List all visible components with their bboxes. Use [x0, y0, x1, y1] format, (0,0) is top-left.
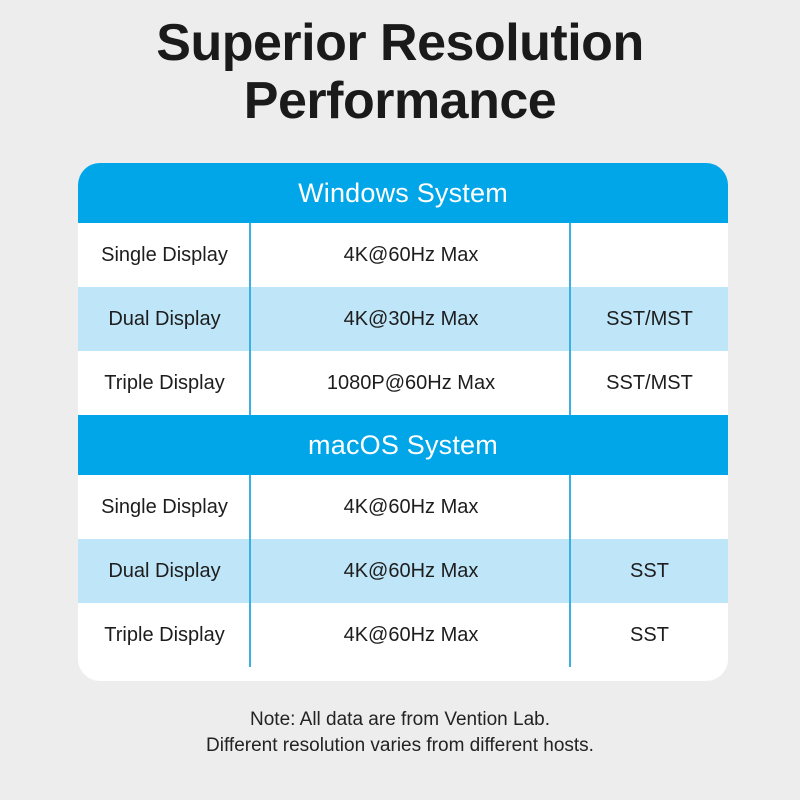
- page-title: Superior Resolution Performance: [0, 14, 800, 130]
- cell-resolution: 4K@60Hz Max: [251, 603, 571, 667]
- footnote-line-1: Note: All data are from Vention Lab.: [0, 707, 800, 733]
- cell-mode: SST/MST: [571, 351, 728, 415]
- cell-display-type: Triple Display: [78, 351, 251, 415]
- table-row: Triple Display 1080P@60Hz Max SST/MST: [78, 351, 728, 415]
- cell-display-type: Dual Display: [78, 539, 251, 603]
- cell-resolution: 1080P@60Hz Max: [251, 351, 571, 415]
- cell-resolution: 4K@60Hz Max: [251, 223, 571, 287]
- footnote: Note: All data are from Vention Lab. Dif…: [0, 707, 800, 758]
- cell-mode: SST/MST: [571, 287, 728, 351]
- cell-resolution: 4K@30Hz Max: [251, 287, 571, 351]
- page-title-line-2: Performance: [0, 72, 800, 130]
- section-header-windows-label: Windows System: [298, 178, 508, 209]
- page-title-line-1: Superior Resolution: [0, 14, 800, 72]
- table-row: Triple Display 4K@60Hz Max SST: [78, 603, 728, 667]
- cell-mode: SST: [571, 539, 728, 603]
- cell-resolution: 4K@60Hz Max: [251, 475, 571, 539]
- footnote-line-2: Different resolution varies from differe…: [0, 733, 800, 759]
- resolution-performance-infographic: Superior Resolution Performance Windows …: [0, 0, 800, 800]
- section-header-windows: Windows System: [78, 163, 728, 223]
- table-row: Single Display 4K@60Hz Max: [78, 223, 728, 287]
- cell-display-type: Triple Display: [78, 603, 251, 667]
- resolution-table-card: Windows System Single Display 4K@60Hz Ma…: [78, 163, 728, 681]
- table-row: Dual Display 4K@30Hz Max SST/MST: [78, 287, 728, 351]
- cell-mode: [571, 475, 728, 539]
- cell-display-type: Single Display: [78, 475, 251, 539]
- cell-mode: SST: [571, 603, 728, 667]
- cell-display-type: Dual Display: [78, 287, 251, 351]
- cell-mode: [571, 223, 728, 287]
- table-row: Single Display 4K@60Hz Max: [78, 475, 728, 539]
- table-row: Dual Display 4K@60Hz Max SST: [78, 539, 728, 603]
- section-header-macos: macOS System: [78, 415, 728, 475]
- section-header-macos-label: macOS System: [308, 430, 498, 461]
- cell-display-type: Single Display: [78, 223, 251, 287]
- cell-resolution: 4K@60Hz Max: [251, 539, 571, 603]
